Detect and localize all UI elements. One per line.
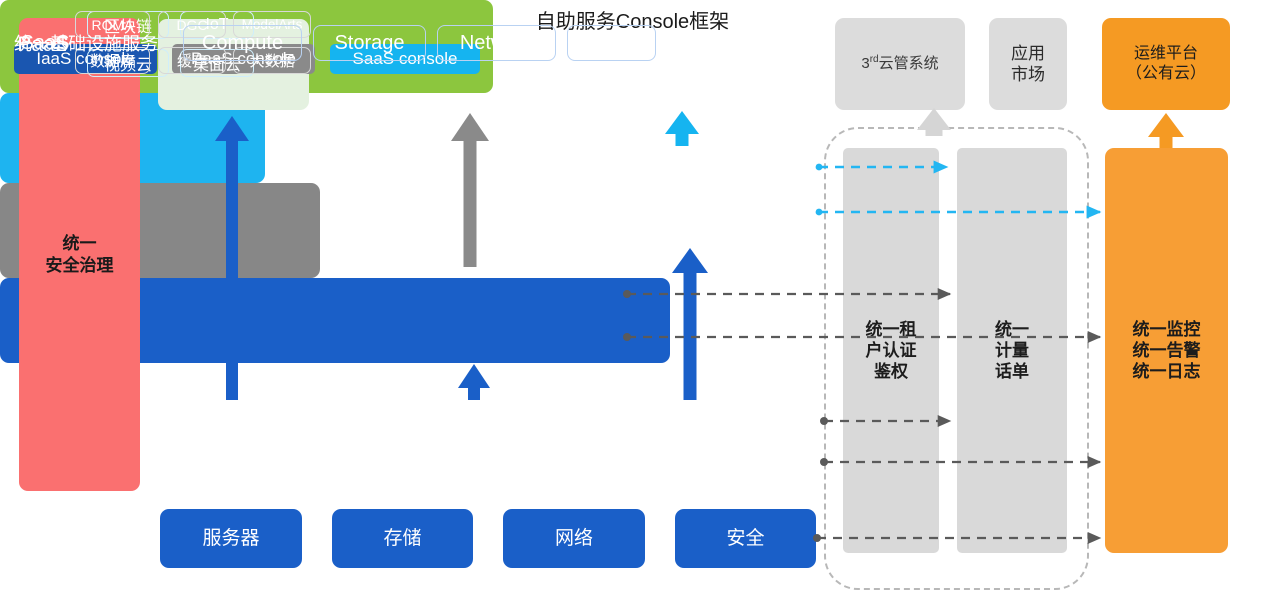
unified-infrastructure-label: 统一基础设施服务 [14, 30, 158, 56]
arrow-paas-to-console [451, 113, 489, 267]
infra-service-storage[interactable]: Storage [313, 25, 426, 61]
ops-platform-box: 运维平台 （公有云） [1102, 18, 1230, 110]
arrow-ops-column-to-ops-platform [1148, 113, 1184, 148]
ops-platform-line1: 运维平台 [1126, 44, 1206, 64]
unified-monitoring-line1: 统一监控 [1133, 319, 1201, 340]
tenant-auth-line3: 鉴权 [866, 361, 917, 382]
security-governance-line2: 安全治理 [46, 255, 114, 276]
third-party-prefix: 3 [861, 55, 869, 72]
app-market-line1: 应用 [1011, 43, 1045, 64]
arrow-infra-to-saas [672, 248, 708, 400]
infra-service-compute[interactable]: Compute [183, 25, 302, 61]
architecture-diagram: 统一 安全治理 API网关 自助服务Console框架 IaaS console… [0, 0, 1265, 605]
unified-tenant-auth-column: 统一租 户认证 鉴权 [843, 148, 939, 553]
ops-platform-line2: （公有云） [1126, 64, 1206, 84]
hardware-storage-box[interactable]: 存储 [332, 509, 473, 568]
metering-line1: 统一 [995, 319, 1029, 340]
infra-service-network[interactable]: Network [437, 25, 556, 61]
hardware-server-box[interactable]: 服务器 [160, 509, 302, 568]
security-governance-line1: 统一 [46, 233, 114, 254]
unified-metering-column: 统一 计量 话单 [957, 148, 1067, 553]
third-party-cloud-mgmt-box: 3rd云管系统 [835, 18, 965, 110]
hardware-network-box[interactable]: 网络 [503, 509, 645, 568]
arrow-saas-to-console [665, 111, 699, 146]
metering-line2: 计量 [995, 340, 1029, 361]
hardware-security-box[interactable]: 安全 [675, 509, 816, 568]
security-governance-panel: 统一 安全治理 [19, 18, 140, 491]
tenant-auth-line1: 统一租 [866, 319, 917, 340]
unified-monitoring-line3: 统一日志 [1133, 361, 1201, 382]
third-party-suffix: 云管系统 [879, 55, 939, 72]
infra-service-cce[interactable]: CCE [567, 25, 656, 61]
app-market-line2: 市场 [1011, 64, 1045, 85]
tenant-auth-line2: 户认证 [866, 340, 917, 361]
third-party-superscript: rd [870, 54, 879, 65]
unified-monitoring-column: 统一监控 统一告警 统一日志 [1105, 148, 1228, 553]
unified-monitoring-line2: 统一告警 [1133, 340, 1201, 361]
app-market-box: 应用 市场 [989, 18, 1067, 110]
metering-line3: 话单 [995, 361, 1029, 382]
arrow-infra-to-paas [458, 364, 490, 400]
